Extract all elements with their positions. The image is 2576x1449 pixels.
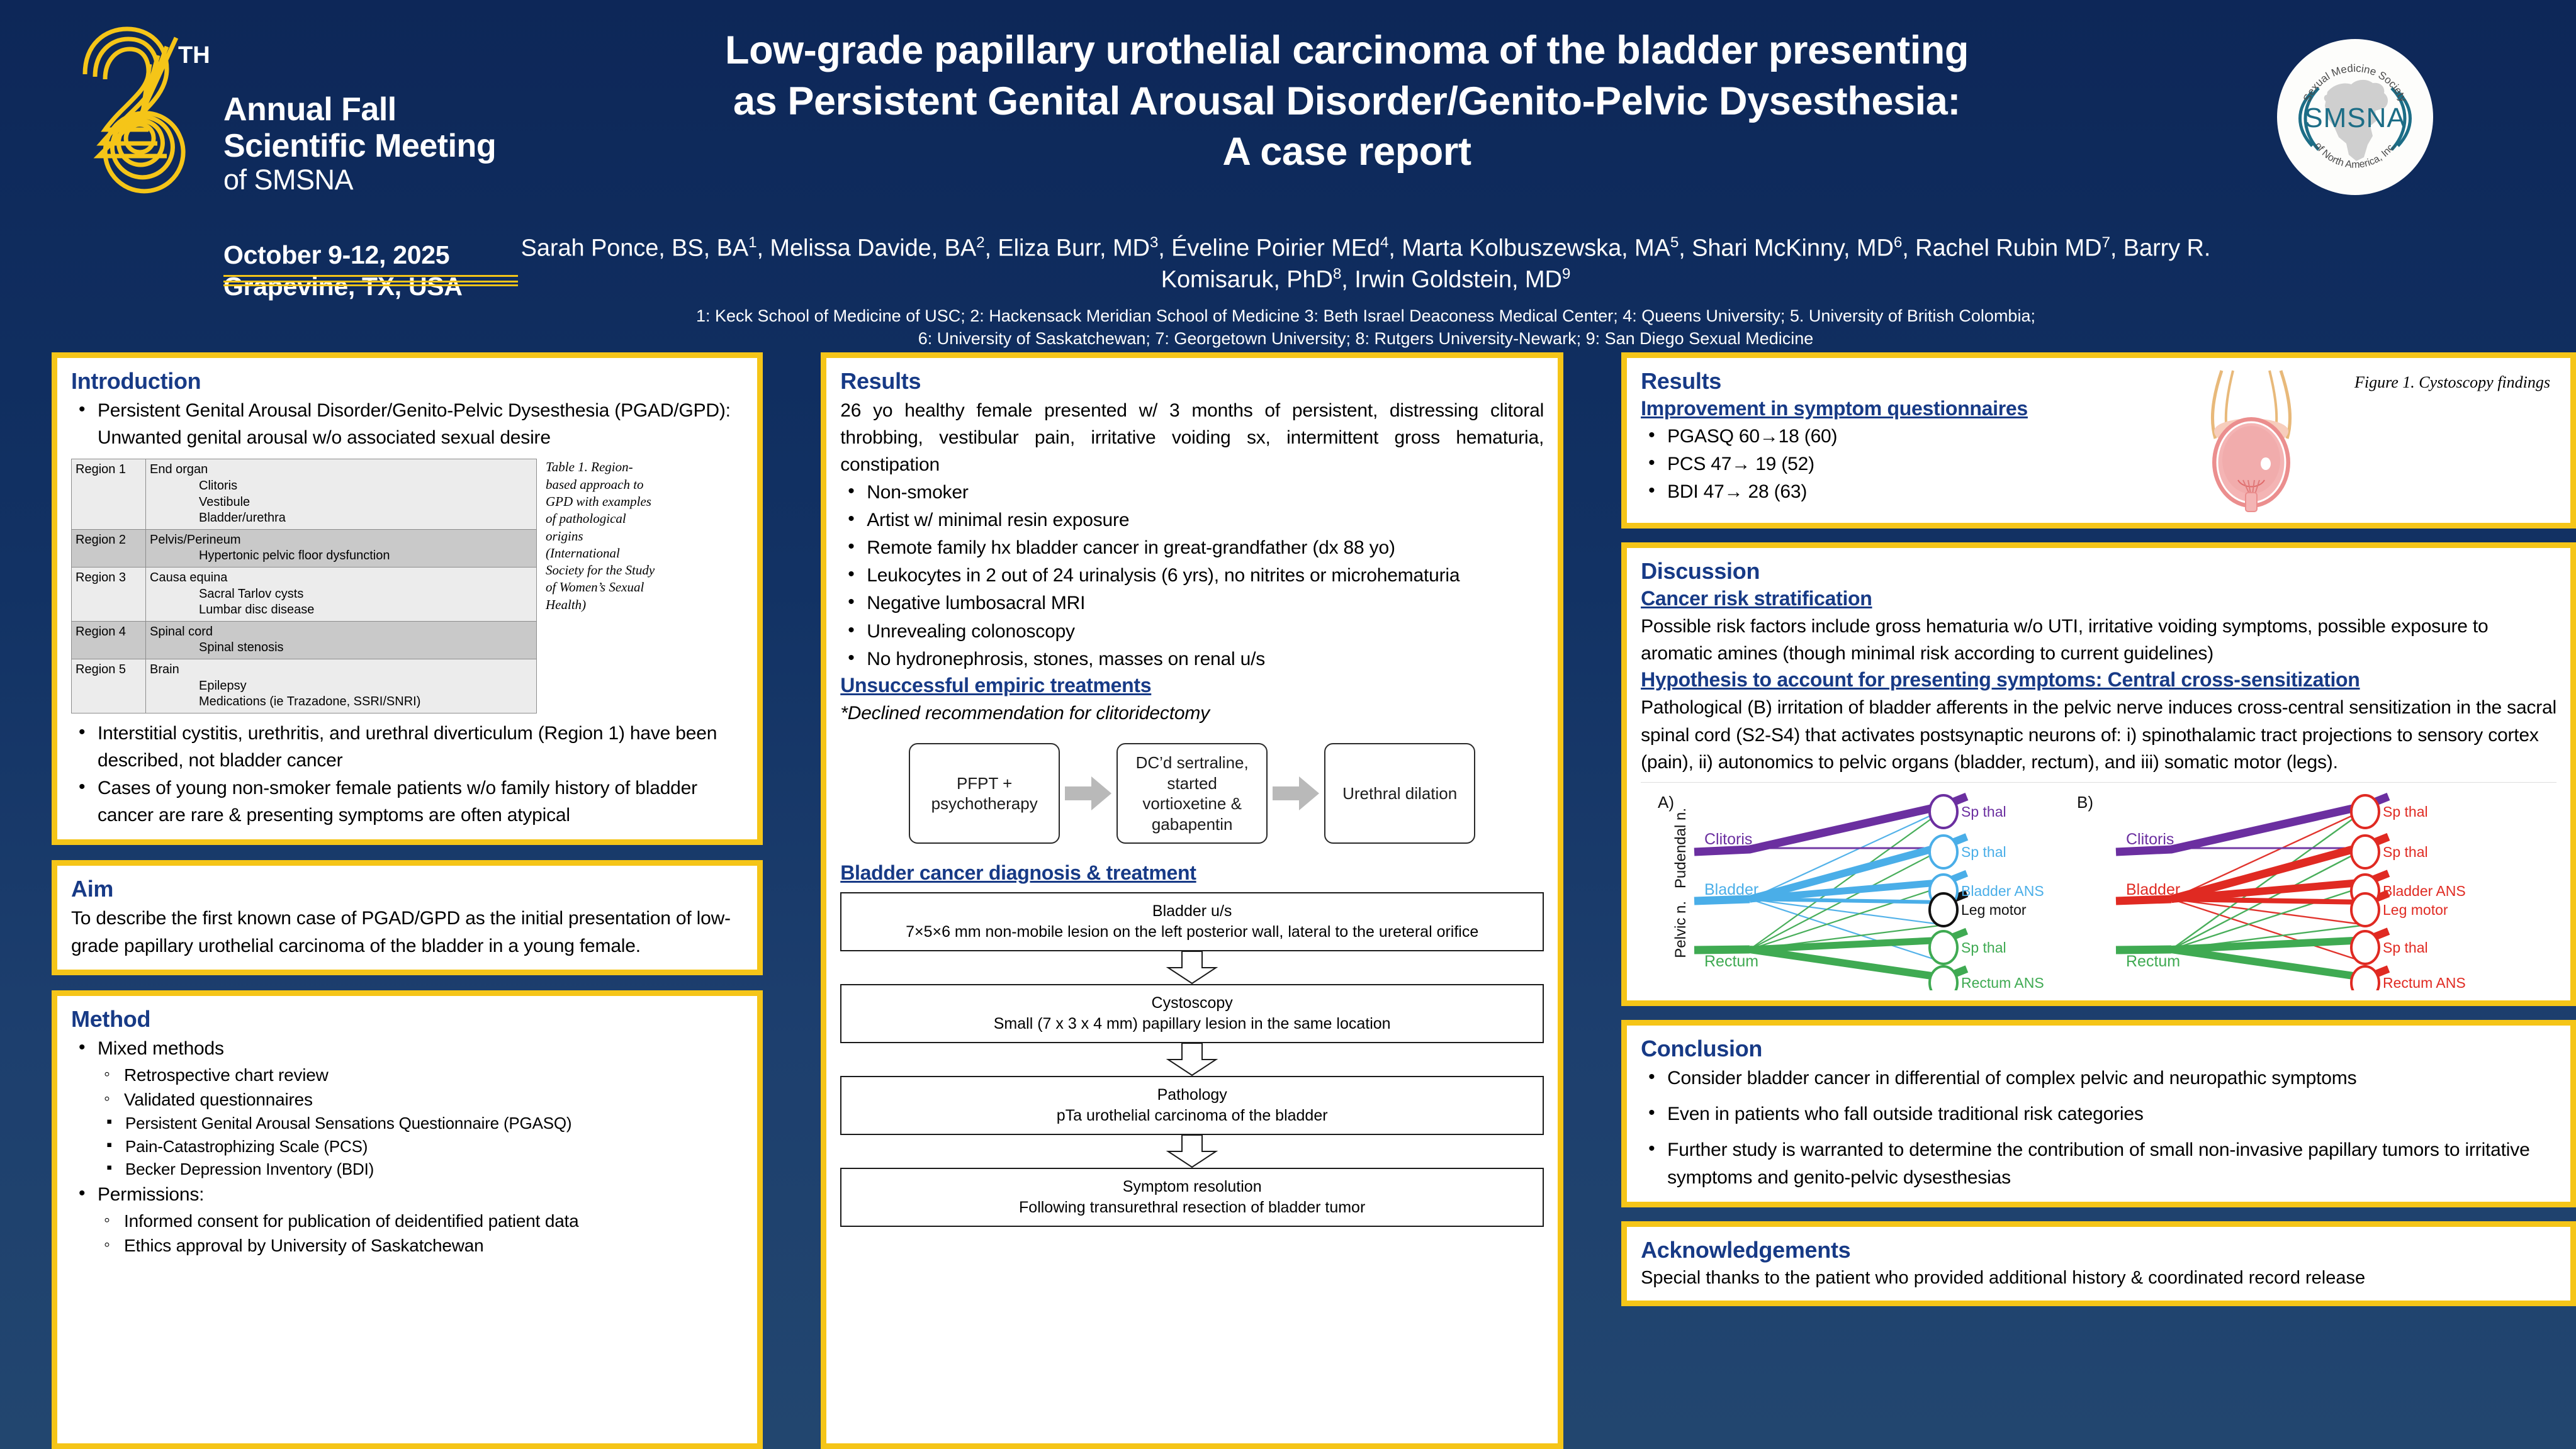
region-item: Spinal stenosis	[150, 640, 532, 656]
svg-text:Leg motor: Leg motor	[2383, 902, 2448, 918]
list-item: Unrevealing colonoscopy	[840, 618, 1544, 645]
svg-text:Sp thal: Sp thal	[2383, 939, 2428, 956]
region-label: Region 1	[72, 459, 146, 529]
poster-header: TH Annual Fall Scientific Meeting of SMS…	[0, 0, 2576, 352]
results-questionnaire-row: Results Improvement in symptom questionn…	[1641, 368, 2556, 513]
poster-title: Low-grade papillary urothelial carcinoma…	[529, 25, 2165, 177]
step-title: Bladder u/s	[850, 901, 1534, 922]
diagnosis-step-3: Pathology pTa urothelial carcinoma of th…	[840, 1076, 1544, 1135]
diagnosis-step-1: Bladder u/s 7×5×6 mm non-mobile lesion o…	[840, 892, 1544, 951]
affiliation-line-2: 6: University of Saskatchewan; 7: George…	[503, 328, 2228, 350]
results-case-heading: Results	[840, 368, 1544, 394]
introduction-bottom-bullets: Interstitial cystitis, urethritis, and u…	[71, 720, 743, 829]
poster-canvas: TH Annual Fall Scientific Meeting of SMS…	[0, 0, 2576, 1449]
treatment-step-2: DC’d sertraline, started vortioxetine & …	[1116, 743, 1268, 844]
list-item: Cases of young non-smoker female patient…	[71, 775, 743, 829]
author-list: Sarah Ponce, BS, BA1, Melissa Davide, BA…	[503, 233, 2228, 296]
table-row: Region 2 Pelvis/Perineum Hypertonic pelv…	[72, 529, 537, 567]
svg-text:SMSNA: SMSNA	[2304, 103, 2405, 133]
questionnaire-scores: PGASQ 60→18 (60) PCS 47→ 19 (52) BDI 47→…	[1641, 423, 2157, 506]
method-heading: Method	[71, 1006, 743, 1032]
introduction-top-bullets: Persistent Genital Arousal Disorder/Geni…	[71, 397, 743, 451]
region-item: Vestibule	[150, 495, 532, 511]
table-row: Region 3 Causa equina Sacral Tarlov cyst…	[72, 567, 537, 621]
list-item: Non-smoker	[840, 479, 1544, 506]
svg-text:Clitoris: Clitoris	[2126, 831, 2174, 848]
region-item: Clitoris	[150, 478, 532, 495]
svg-text:B): B)	[2077, 793, 2093, 812]
region-title: Spinal cord	[150, 625, 213, 639]
aim-text: To describe the first known case of PGAD…	[71, 905, 743, 959]
acknowledgements-heading: Acknowledgements	[1641, 1237, 2556, 1263]
poster-body: Introduction Persistent Genital Arousal …	[0, 352, 2576, 1449]
diagnosis-flow: Bladder u/s 7×5×6 mm non-mobile lesion o…	[840, 892, 1544, 1227]
list-item: Ethics approval by University of Saskatc…	[99, 1233, 743, 1258]
list-item: Mixed methods	[71, 1035, 743, 1062]
panel-results-case: Results 26 yo healthy female presented w…	[821, 352, 1563, 1449]
svg-text:Sp thal: Sp thal	[1961, 939, 2006, 956]
table-row: Region 4 Spinal cord Spinal stenosis	[72, 621, 537, 659]
region-content: End organ Clitoris Vestibule Bladder/ure…	[146, 459, 537, 529]
svg-text:Leg motor: Leg motor	[1961, 902, 2027, 918]
flow-arrow-icon	[1268, 775, 1324, 812]
list-item: BDI 47→ 28 (63)	[1641, 478, 2157, 505]
region-title: Brain	[150, 663, 179, 676]
title-line-3: A case report	[529, 126, 2165, 177]
list-item: Negative lumbosacral MRI	[840, 590, 1544, 617]
svg-text:Sp thal: Sp thal	[1961, 803, 2006, 820]
aim-heading: Aim	[71, 876, 743, 902]
list-item: PCS 47→ 19 (52)	[1641, 450, 2157, 478]
panel-introduction: Introduction Persistent Genital Arousal …	[52, 352, 763, 845]
down-arrow-icon	[840, 951, 1544, 984]
panel-results-questionnaires: Results Improvement in symptom questionn…	[1621, 352, 2576, 529]
discussion-sub-1: Cancer risk stratification	[1641, 587, 2556, 610]
svg-text:Rectum: Rectum	[2126, 953, 2180, 970]
method-permissions-head: Permissions:	[71, 1181, 743, 1208]
svg-text:Clitoris: Clitoris	[1704, 831, 1752, 848]
list-item: Retrospective chart review	[99, 1063, 743, 1087]
region-item: Bladder/urethra	[150, 510, 532, 527]
introduction-heading: Introduction	[71, 368, 743, 394]
results-case-bullets: Non-smoker Artist w/ minimal resin expos…	[840, 479, 1544, 673]
treatment-flow: PFPT + psychotherapy DC’d sertraline, st…	[840, 743, 1544, 844]
method-permissions-list: Informed consent for publication of deid…	[71, 1209, 743, 1258]
region-title: Pelvis/Perineum	[150, 533, 241, 547]
method-list: Mixed methods	[71, 1035, 743, 1062]
treatments-note: *Declined recommendation for clitoridect…	[840, 700, 1544, 727]
region-item: Sacral Tarlov cysts	[150, 586, 532, 603]
treatments-heading: Unsuccessful empiric treatments	[840, 674, 1544, 697]
svg-text:Sp thal: Sp thal	[2383, 844, 2428, 860]
step-title: Pathology	[850, 1085, 1534, 1105]
cross-sensitization-diagram: A) Pudendal n. Pelvic n.	[1641, 782, 2556, 990]
list-item: No hydronephrosis, stones, masses on ren…	[840, 646, 1544, 673]
region-title: Causa equina	[150, 571, 227, 585]
svg-text:Rectum: Rectum	[1704, 953, 1758, 970]
questionnaire-list: Persistent Genital Arousal Sensations Qu…	[71, 1112, 743, 1180]
region-content: Pelvis/Perineum Hypertonic pelvic floor …	[146, 529, 537, 567]
step-title: Symptom resolution	[850, 1177, 1534, 1197]
meeting-line-1: Annual Fall	[223, 91, 551, 128]
step-detail: Small (7 x 3 x 4 mm) papillary lesion in…	[994, 1015, 1391, 1032]
results-q-subheading: Improvement in symptom questionnaires	[1641, 397, 2157, 420]
conclusion-heading: Conclusion	[1641, 1036, 2556, 1062]
left-column: Introduction Persistent Genital Arousal …	[52, 352, 763, 1449]
svg-text:Bladder: Bladder	[1704, 881, 1758, 898]
date-underline-rule	[223, 275, 518, 283]
region-table: Region 1 End organ Clitoris Vestibule Bl…	[71, 459, 537, 713]
table-caption: Table 1. Region-based approach to GPD wi…	[546, 459, 659, 613]
smsna-logo: SMSNA Sexual Medicine Society of North A…	[2277, 39, 2433, 195]
list-item: Interstitial cystitis, urethritis, and u…	[71, 720, 743, 774]
discussion-para-2: Pathological (B) irritation of bladder a…	[1641, 694, 2556, 776]
affiliation-list: 1: Keck School of Medicine of USC; 2: Ha…	[503, 305, 2228, 350]
treatment-step-3: Urethral dilation	[1324, 743, 1475, 844]
date-underline-rule-2	[223, 284, 518, 286]
list-item: Informed consent for publication of deid…	[99, 1209, 743, 1233]
region-item: Medications (ie Trazadone, SSRI/SNRI)	[150, 694, 532, 710]
title-line-2: as Persistent Genital Arousal Disorder/G…	[529, 76, 2165, 127]
svg-text:Rectum ANS: Rectum ANS	[1961, 975, 2044, 990]
list-item: Becker Depression Inventory (BDI)	[101, 1158, 743, 1180]
figure-1-caption: Figure 1. Cystoscopy findings	[2346, 368, 2556, 393]
panel-aim: Aim To describe the first known case of …	[52, 860, 763, 975]
diagnosis-step-2: Cystoscopy Small (7 x 3 x 4 mm) papillar…	[840, 984, 1544, 1043]
region-content: Causa equina Sacral Tarlov cysts Lumbar …	[146, 567, 537, 621]
step-title: Cystoscopy	[850, 993, 1534, 1014]
svg-text:Pelvic n.: Pelvic n.	[1672, 901, 1689, 958]
svg-text:Pudendal n.: Pudendal n.	[1672, 808, 1689, 888]
step-detail: Following transurethral resection of bla…	[1019, 1199, 1365, 1216]
region-label: Region 5	[72, 659, 146, 713]
region-item: Lumbar disc disease	[150, 602, 532, 618]
diagnosis-heading: Bladder cancer diagnosis & treatment	[840, 861, 1544, 885]
svg-text:Sp thal: Sp thal	[1961, 844, 2006, 860]
list-item: Remote family hx bladder cancer in great…	[840, 534, 1544, 561]
svg-text:TH: TH	[178, 42, 210, 69]
region-content: Spinal cord Spinal stenosis	[146, 621, 537, 659]
list-item: Leukocytes in 2 out of 24 urinalysis (6 …	[840, 562, 1544, 589]
region-label: Region 4	[72, 621, 146, 659]
discussion-sub-2: Hypothesis to account for presenting sym…	[1641, 668, 2556, 691]
region-content: Brain Epilepsy Medications (ie Trazadone…	[146, 659, 537, 713]
discussion-para-1: Possible risk factors include gross hema…	[1641, 613, 2556, 667]
list-item: Further study is warranted to determine …	[1641, 1136, 2556, 1190]
region-item: Epilepsy	[150, 678, 532, 695]
list-item: Persistent Genital Arousal Disorder/Geni…	[71, 397, 743, 451]
meeting-line-3: of SMSNA	[223, 164, 551, 196]
down-arrow-icon	[840, 1135, 1544, 1168]
panel-discussion: Discussion Cancer risk stratification Po…	[1621, 542, 2576, 1006]
discussion-heading: Discussion	[1641, 558, 2556, 585]
panel-acknowledgements: Acknowledgements Special thanks to the p…	[1621, 1221, 2576, 1306]
meeting-name-block: Annual Fall Scientific Meeting of SMSNA	[223, 91, 551, 196]
bladder-cystoscopy-figure	[2157, 368, 2346, 513]
region-item: Hypertonic pelvic floor dysfunction	[150, 548, 532, 564]
title-line-1: Low-grade papillary urothelial carcinoma…	[529, 25, 2165, 76]
right-column: Results Improvement in symptom questionn…	[1621, 352, 2576, 1449]
list-item: PGASQ 60→18 (60)	[1641, 423, 2157, 450]
meeting-line-2: Scientific Meeting	[223, 128, 551, 164]
region-title: End organ	[150, 462, 208, 476]
panel-method: Method Mixed methods Retrospective chart…	[52, 990, 763, 1449]
affiliation-line-1: 1: Keck School of Medicine of USC; 2: Ha…	[503, 305, 2228, 328]
list-item: Consider bladder cancer in differential …	[1641, 1065, 2556, 1092]
list-item: Pain-Catastrophizing Scale (PCS)	[101, 1135, 743, 1158]
diagnosis-step-4: Symptom resolution Following transurethr…	[840, 1168, 1544, 1227]
list-item: Persistent Genital Arousal Sensations Qu…	[101, 1112, 743, 1134]
flow-arrow-icon	[1060, 775, 1116, 812]
conclusion-bullets: Consider bladder cancer in differential …	[1641, 1065, 2556, 1191]
results-q-heading: Results	[1641, 368, 2157, 394]
list-item: Validated questionnaires	[99, 1087, 743, 1112]
results-case-intro: 26 yo healthy female presented w/ 3 mont…	[840, 397, 1544, 479]
results-questionnaire-text: Results Improvement in symptom questionn…	[1641, 368, 2157, 506]
list-item: Even in patients who fall outside tradit…	[1641, 1100, 2556, 1127]
middle-column: Results 26 yo healthy female presented w…	[821, 352, 1563, 1449]
region-label: Region 3	[72, 567, 146, 621]
table-row: Region 5 Brain Epilepsy Medications (ie …	[72, 659, 537, 713]
region-label: Region 2	[72, 529, 146, 567]
svg-text:Sp thal: Sp thal	[2383, 803, 2428, 820]
step-detail: 7×5×6 mm non-mobile lesion on the left p…	[906, 923, 1478, 941]
region-table-row: Region 1 End organ Clitoris Vestibule Bl…	[71, 459, 743, 713]
panel-conclusion: Conclusion Consider bladder cancer in di…	[1621, 1020, 2576, 1207]
table-row: Region 1 End organ Clitoris Vestibule Bl…	[72, 459, 537, 529]
step-detail: pTa urothelial carcinoma of the bladder	[1057, 1107, 1328, 1124]
acknowledgements-text: Special thanks to the patient who provid…	[1641, 1266, 2556, 1290]
down-arrow-icon	[840, 1043, 1544, 1076]
treatment-step-1: PFPT + psychotherapy	[909, 743, 1060, 844]
method-sublist-1: Retrospective chart review Validated que…	[71, 1063, 743, 1112]
svg-text:Bladder: Bladder	[2126, 881, 2180, 898]
svg-text:Bladder ANS: Bladder ANS	[2383, 883, 2466, 899]
svg-text:Bladder ANS: Bladder ANS	[1961, 883, 2044, 899]
svg-text:Rectum ANS: Rectum ANS	[2383, 975, 2466, 990]
list-item: Artist w/ minimal resin exposure	[840, 506, 1544, 534]
list-item: Permissions:	[71, 1181, 743, 1208]
